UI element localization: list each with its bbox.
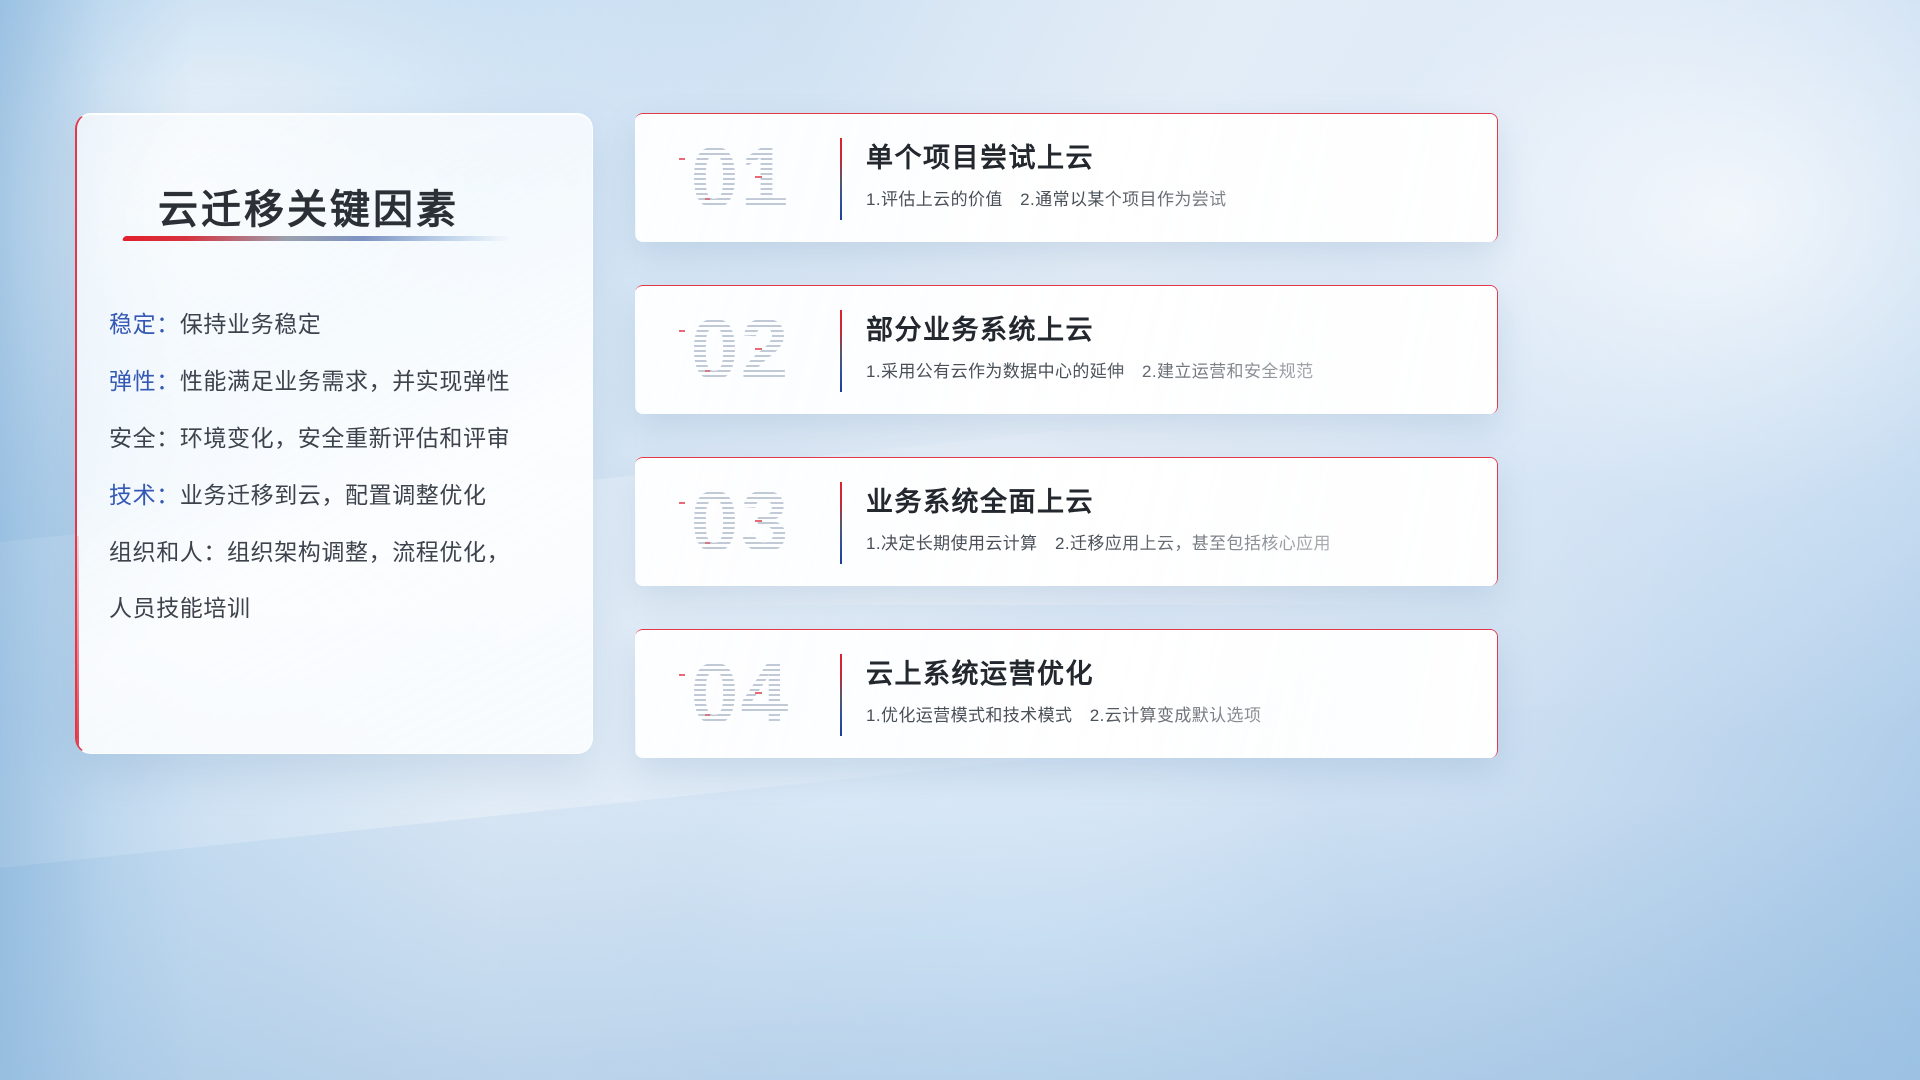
- stage-card-02[interactable]: 02 部分业务系统上云 1.采用公有云作为数据中心的延伸 2.建立运营和安全规范: [635, 285, 1498, 414]
- list-item-label: 组织和人：: [109, 539, 227, 565]
- stage-number: 03: [663, 472, 818, 572]
- title-underline-gradient: [122, 236, 513, 241]
- stage-number-wrap: 02: [635, 286, 835, 414]
- number-accent-mark-icon: [679, 674, 685, 676]
- stage-divider: [840, 654, 842, 736]
- list-item: 人员技能培训: [109, 594, 579, 624]
- number-accent-mark-icon: [679, 502, 685, 504]
- stage-number: 04: [663, 644, 818, 744]
- page-title: 云迁移关键因素: [158, 177, 459, 235]
- number-accent-mark-icon: [755, 176, 762, 178]
- stage-subtitle: 1.采用公有云作为数据中心的延伸 2.建立运营和安全规范: [866, 357, 1314, 382]
- number-accent-mark-icon: [679, 158, 685, 160]
- number-accent-mark-icon: [755, 692, 762, 694]
- number-accent-mark-icon: [705, 714, 710, 716]
- list-item-label: 稳定：: [109, 311, 180, 337]
- list-item: 安全：环境变化，安全重新评估和评审: [109, 424, 579, 454]
- stage-card-04[interactable]: 04 云上系统运营优化 1.优化运营模式和技术模式 2.云计算变成默认选项: [635, 629, 1498, 758]
- stage-divider: [840, 482, 842, 564]
- stage-card-01[interactable]: 01 单个项目尝试上云 1.评估上云的价值 2.通常以某个项目作为尝试: [635, 113, 1498, 242]
- list-item-text: 组织架构调整，流程优化，: [227, 539, 510, 565]
- key-factors-list: 稳定：保持业务稳定 弹性：性能满足业务需求，并实现弹性 安全：环境变化，安全重新…: [109, 310, 579, 624]
- stage-number: 02: [663, 300, 818, 400]
- number-accent-mark-icon: [755, 520, 762, 522]
- stage-title: 业务系统全面上云: [866, 480, 1094, 519]
- list-item: 稳定：保持业务稳定: [109, 310, 579, 340]
- stage-number-wrap: 01: [635, 114, 835, 242]
- stage-subtitle: 1.优化运营模式和技术模式 2.云计算变成默认选项: [866, 701, 1261, 726]
- stage-card-03[interactable]: 03 业务系统全面上云 1.决定长期使用云计算 2.迁移应用上云，甚至包括核心应…: [635, 457, 1498, 586]
- number-accent-mark-icon: [705, 542, 710, 544]
- list-item-text: 性能满足业务需求，并实现弹性: [180, 368, 510, 394]
- stage-subtitle: 1.决定长期使用云计算 2.迁移应用上云，甚至包括核心应用: [866, 529, 1331, 554]
- list-item-label: 技术：: [109, 482, 180, 508]
- list-item-text: 环境变化，安全重新评估和评审: [180, 425, 510, 451]
- stage-title: 单个项目尝试上云: [866, 136, 1094, 175]
- stage-title: 部分业务系统上云: [866, 308, 1094, 347]
- number-accent-mark-icon: [755, 348, 762, 350]
- key-factors-card: 云迁移关键因素 稳定：保持业务稳定 弹性：性能满足业务需求，并实现弹性 安全：环…: [75, 113, 593, 754]
- stage-number-wrap: 03: [635, 458, 835, 586]
- list-item: 技术：业务迁移到云，配置调整优化: [109, 481, 579, 511]
- list-item-text: 人员技能培训: [109, 595, 251, 621]
- list-item-text: 业务迁移到云，配置调整优化: [180, 482, 487, 508]
- number-accent-mark-icon: [705, 370, 710, 372]
- stage-divider: [840, 138, 842, 220]
- stage-title: 云上系统运营优化: [866, 652, 1094, 691]
- stage-number-wrap: 04: [635, 630, 835, 758]
- number-accent-mark-icon: [705, 198, 710, 200]
- list-item: 弹性：性能满足业务需求，并实现弹性: [109, 367, 579, 397]
- stage-number: 01: [663, 128, 818, 228]
- number-accent-mark-icon: [679, 330, 685, 332]
- list-item-label: 弹性：: [109, 368, 180, 394]
- stage-divider: [840, 310, 842, 392]
- list-item-label: 安全：: [109, 425, 180, 451]
- stage-subtitle: 1.评估上云的价值 2.通常以某个项目作为尝试: [866, 185, 1227, 210]
- list-item-text: 保持业务稳定: [180, 311, 322, 337]
- list-item: 组织和人：组织架构调整，流程优化，: [109, 538, 579, 568]
- slide-stage: 云迁移关键因素 稳定：保持业务稳定 弹性：性能满足业务需求，并实现弹性 安全：环…: [0, 0, 1920, 1080]
